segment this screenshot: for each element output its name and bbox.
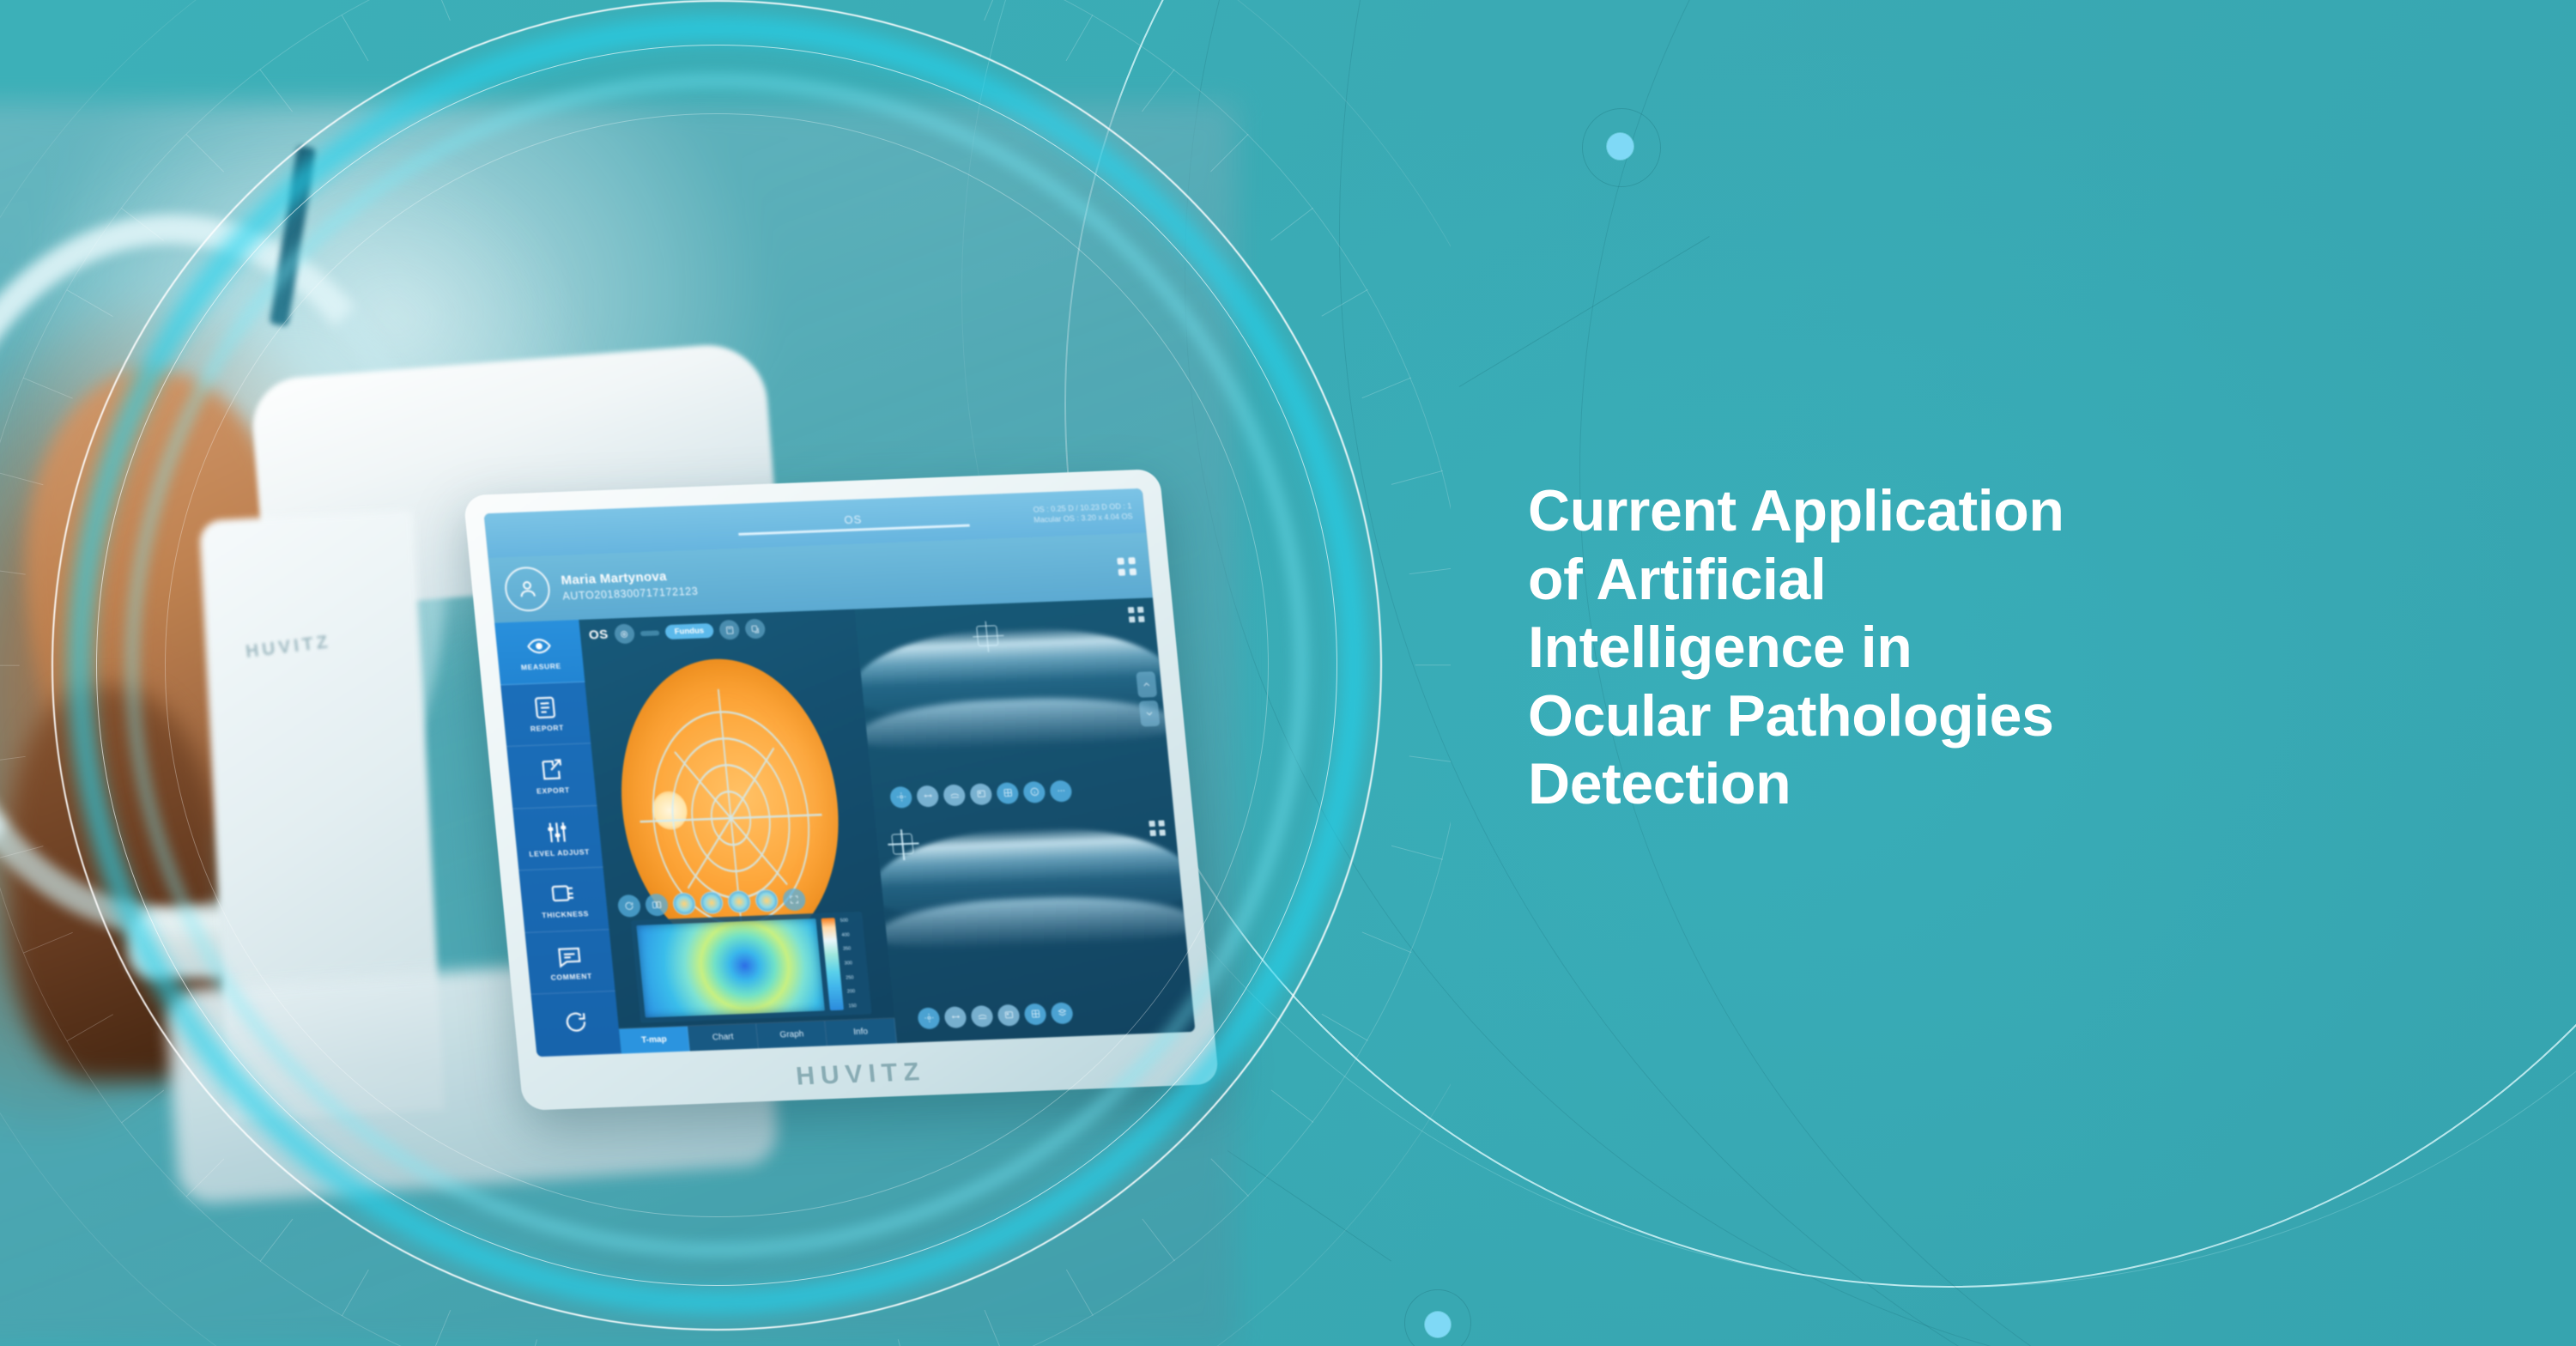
decor-node-dot-1 <box>1607 133 1633 160</box>
tick-mark <box>0 567 26 574</box>
tick-mark <box>1409 567 1451 574</box>
tick-mark <box>1362 931 1412 953</box>
title-line-1: Current Application <box>1528 477 2421 546</box>
tick-mark <box>1270 208 1313 241</box>
tick-mark <box>0 470 44 485</box>
tick-mark <box>1391 846 1443 860</box>
tick-mark <box>0 755 26 763</box>
tick-mark <box>984 0 1005 21</box>
tick-mark <box>984 1310 1005 1346</box>
slide-canvas: HUVITZ OS OS : 0.25 D / 10.23 D OD : 1 M… <box>0 0 2576 1346</box>
tick-mark <box>1210 134 1249 173</box>
tick-mark <box>523 1339 537 1346</box>
tick-mark <box>67 289 113 317</box>
title-line-2: of Artificial <box>1528 546 2421 615</box>
tick-mark <box>1066 15 1094 61</box>
tick-mark <box>0 846 44 860</box>
tick-mark <box>0 664 20 665</box>
tick-mark <box>185 1158 224 1197</box>
tick-mark <box>1409 755 1451 763</box>
tick-mark <box>121 1089 164 1123</box>
tick-mark <box>23 931 73 953</box>
radial-tick-marks <box>0 0 1451 1346</box>
title-line-4: Ocular Pathologies <box>1528 682 2421 751</box>
tick-mark <box>1142 1219 1175 1262</box>
tick-mark <box>1391 470 1443 485</box>
tick-mark <box>342 1270 369 1316</box>
tick-mark <box>23 378 73 399</box>
tick-mark <box>259 1219 293 1262</box>
tick-mark <box>1321 289 1367 317</box>
tick-mark <box>429 1310 451 1346</box>
title-line-5: Detection <box>1528 750 2421 819</box>
tick-mark <box>121 208 164 241</box>
tick-mark <box>1415 664 1451 665</box>
tick-mark <box>342 15 369 61</box>
device-photo-region: HUVITZ OS OS : 0.25 D / 10.23 D OD : 1 M… <box>0 0 1451 1346</box>
title-line-3: Intelligence in <box>1528 614 2421 682</box>
tick-mark <box>1362 378 1412 399</box>
tick-mark <box>429 0 451 21</box>
tick-mark <box>897 1339 912 1346</box>
page-title: Current Application of Artificial Intell… <box>1528 477 2421 819</box>
tick-mark <box>67 1014 113 1041</box>
tick-mark <box>1066 1270 1094 1316</box>
tick-mark <box>1270 1089 1313 1123</box>
tick-mark <box>185 134 224 173</box>
tick-mark <box>259 69 293 112</box>
tick-mark <box>1142 69 1175 112</box>
tick-mark <box>1321 1014 1367 1041</box>
tick-mark <box>1210 1158 1249 1197</box>
